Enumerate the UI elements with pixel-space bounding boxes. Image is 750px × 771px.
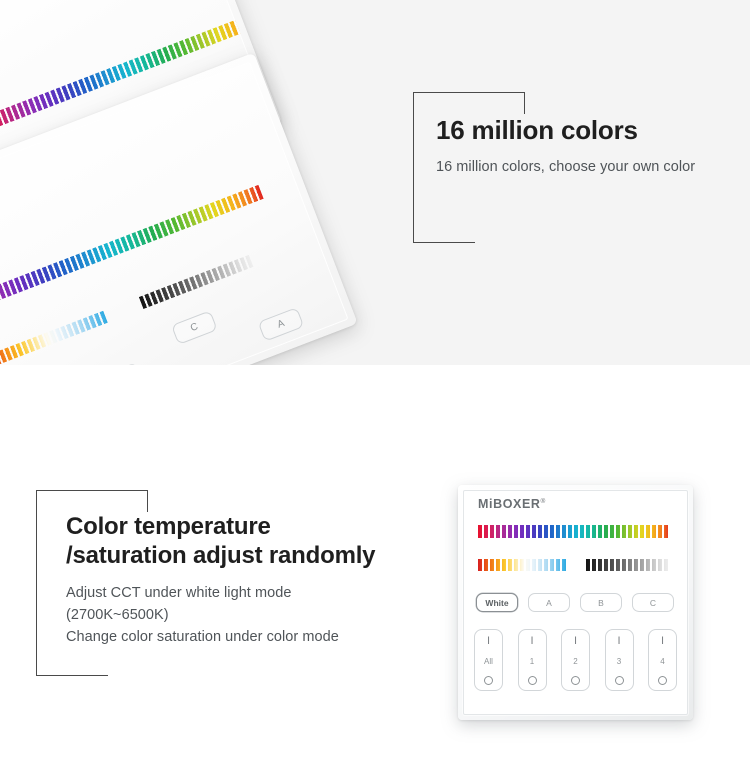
bracket-top-line bbox=[413, 92, 525, 93]
bracket-left-line bbox=[36, 490, 37, 676]
power-off-icon[interactable] bbox=[571, 676, 580, 685]
zone-label: 4 bbox=[660, 658, 664, 666]
bracket-top-right-tick bbox=[524, 92, 525, 114]
zone-button-2[interactable]: I 2 bbox=[561, 629, 590, 691]
mode-button-white[interactable]: White bbox=[476, 593, 518, 612]
zone-label: 2 bbox=[573, 658, 577, 666]
bottom-subline-line2: (2700K~6500K) bbox=[66, 604, 486, 626]
brightness-bar bbox=[139, 255, 254, 309]
section-16-million-colors: MiBOXER® C B A 16 million colors 16 mill… bbox=[0, 0, 750, 365]
mode-button-b[interactable]: B bbox=[580, 593, 622, 612]
device-brand: MiBOXER bbox=[478, 497, 541, 511]
mode-button-c[interactable]: C bbox=[171, 310, 218, 345]
power-on-icon[interactable]: I bbox=[661, 636, 664, 647]
mode-button-label: C bbox=[650, 598, 656, 608]
zone-button-all[interactable]: I All bbox=[474, 629, 503, 691]
bracket-bottom-line bbox=[413, 242, 475, 243]
mode-button-a[interactable]: A bbox=[258, 307, 305, 342]
product-feature-page: MiBOXER® C B A 16 million colors 16 mill… bbox=[0, 0, 750, 771]
mode-button-c[interactable]: C bbox=[632, 593, 674, 612]
miboxer-control-panel: MiBOXER® White A B C I All bbox=[458, 485, 693, 720]
zone-button-4[interactable]: I 4 bbox=[648, 629, 677, 691]
power-off-icon[interactable] bbox=[528, 676, 537, 685]
brightness-bar[interactable] bbox=[586, 559, 670, 571]
tilted-panel-logo: MiBOXER® bbox=[0, 215, 3, 271]
bottom-headline: Color temperature /saturation adjust ran… bbox=[66, 512, 486, 571]
mode-button-a[interactable]: A bbox=[528, 593, 570, 612]
top-subline: 16 million colors, choose your own color bbox=[436, 156, 746, 178]
mode-button-label: A bbox=[276, 318, 286, 331]
mode-button-label: White bbox=[485, 598, 508, 608]
section-color-temperature: Color temperature /saturation adjust ran… bbox=[0, 365, 750, 771]
power-off-icon[interactable] bbox=[615, 676, 624, 685]
power-on-icon[interactable]: I bbox=[530, 636, 533, 647]
bracket-top-right-tick bbox=[147, 490, 148, 512]
power-on-icon[interactable]: I bbox=[574, 636, 577, 647]
bracket-left-line bbox=[413, 92, 414, 243]
mode-button-row: White A B C bbox=[476, 593, 674, 612]
top-text-bracket: 16 million colors 16 million colors, cho… bbox=[413, 92, 525, 243]
mode-button-label: B bbox=[598, 598, 604, 608]
zone-button-row: I All I 1 I 2 I bbox=[474, 629, 677, 691]
device-face: MiBOXER® White A B C I All bbox=[470, 497, 681, 708]
mode-button-label: C bbox=[189, 321, 200, 334]
cct-white-bar[interactable] bbox=[478, 559, 566, 571]
top-headline: 16 million colors bbox=[436, 115, 746, 147]
zone-button-1[interactable]: I 1 bbox=[518, 629, 547, 691]
top-copy-block: 16 million colors 16 million colors, cho… bbox=[436, 115, 746, 178]
power-on-icon[interactable]: I bbox=[617, 636, 620, 647]
bottom-subline-line1: Adjust CCT under white light mode bbox=[66, 582, 486, 604]
bracket-bottom-line bbox=[36, 675, 108, 676]
cct-white-bar bbox=[0, 311, 108, 365]
bottom-subline-line3: Change color saturation under color mode bbox=[66, 626, 486, 648]
device-logo: MiBOXER® bbox=[478, 497, 546, 511]
rgb-color-bar[interactable] bbox=[478, 525, 670, 538]
zone-label: 1 bbox=[530, 658, 534, 666]
zone-label: All bbox=[484, 658, 493, 666]
bottom-headline-line2: /saturation adjust randomly bbox=[66, 541, 486, 570]
bottom-subline: Adjust CCT under white light mode (2700K… bbox=[66, 582, 486, 649]
zone-button-3[interactable]: I 3 bbox=[605, 629, 634, 691]
registered-mark-icon: ® bbox=[541, 498, 546, 505]
bracket-top-line bbox=[36, 490, 148, 491]
power-on-icon[interactable]: I bbox=[487, 636, 490, 647]
bottom-text-bracket: Color temperature /saturation adjust ran… bbox=[36, 490, 148, 676]
power-off-icon[interactable] bbox=[658, 676, 667, 685]
power-off-icon[interactable] bbox=[484, 676, 493, 685]
bottom-headline-line1: Color temperature bbox=[66, 512, 486, 541]
zone-label: 3 bbox=[617, 658, 621, 666]
rgb-color-bar bbox=[0, 185, 264, 321]
bottom-copy-block: Color temperature /saturation adjust ran… bbox=[66, 512, 486, 649]
mode-button-label: A bbox=[546, 598, 552, 608]
